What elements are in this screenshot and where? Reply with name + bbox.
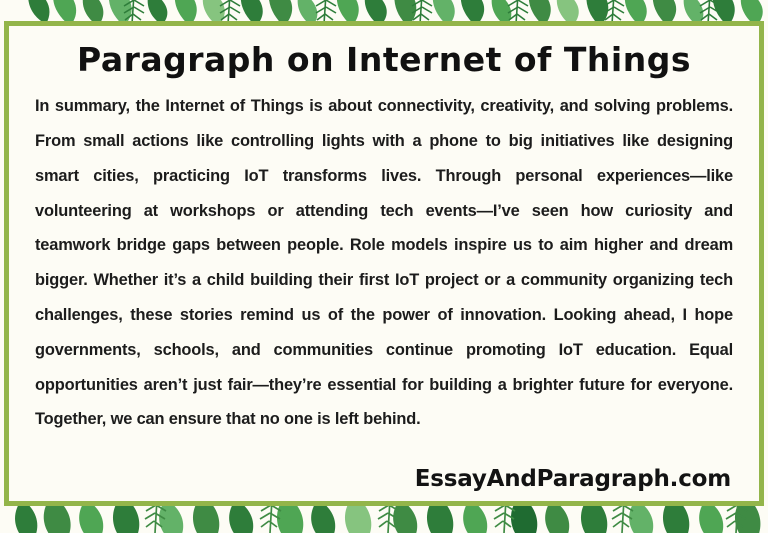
content-frame: Paragraph on Internet of Things In summa…	[4, 21, 764, 506]
paragraph-body: In summary, the Internet of Things is ab…	[35, 89, 733, 437]
site-branding: EssayAndParagraph.com	[415, 466, 731, 492]
page-title: Paragraph on Internet of Things	[35, 36, 733, 80]
poster-canvas: Paragraph on Internet of Things In summa…	[0, 0, 768, 533]
content-area: Paragraph on Internet of Things In summa…	[9, 26, 759, 501]
